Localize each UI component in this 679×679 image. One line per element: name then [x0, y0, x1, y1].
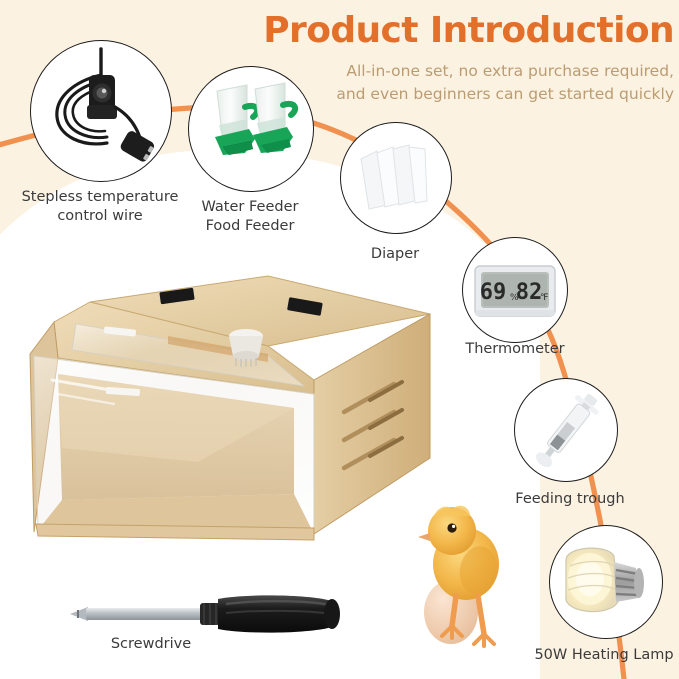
callout-circle-water-food-feeder [188, 66, 314, 192]
callout-circle-diaper [340, 122, 452, 234]
lcd-temperature-value: 82 [516, 280, 543, 305]
lcd-temperature-unit: ℉ [540, 293, 549, 303]
subtitle-line-1: All-in-one set, no extra purchase requir… [260, 60, 674, 83]
infographic-canvas: Product Introduction All-in-one set, no … [0, 0, 679, 679]
callout-circle-heating-lamp [549, 525, 663, 639]
baby-chick-illustration [404, 496, 530, 648]
callout-circle-temperature-control-wire [30, 40, 172, 182]
callout-circle-thermometer: 69 % 82 ℉ [462, 237, 568, 343]
callout-circle-feeding-trough [514, 378, 618, 482]
thermometer-icon: 69 % 82 ℉ [463, 238, 567, 342]
screwdriver-label: Screwdrive [96, 636, 206, 652]
syringe-feeder-icon [515, 379, 617, 481]
phillips-screwdriver-icon [66, 586, 356, 642]
diaper-pads-icon [341, 123, 451, 233]
callout-label-thermometer: Thermometer [450, 340, 580, 359]
callout-label-heating-lamp: 50W Heating Lamp [529, 646, 679, 665]
feeder-bottle-icon [189, 67, 313, 191]
power-cord-icon [31, 41, 171, 181]
heat-lamp-bulb-icon [550, 526, 662, 638]
page-title: Product Introduction [232, 12, 674, 50]
callout-label-water-food-feeder: Water Feeder Food Feeder [170, 198, 330, 236]
page-subtitle: All-in-one set, no extra purchase requir… [260, 60, 674, 107]
phillips-screwdriver-illustration [66, 586, 356, 642]
wooden-brooder-box [18, 262, 438, 562]
subtitle-line-2: and even beginners can get started quick… [260, 83, 674, 106]
lcd-humidity-value: 69 [480, 280, 507, 305]
